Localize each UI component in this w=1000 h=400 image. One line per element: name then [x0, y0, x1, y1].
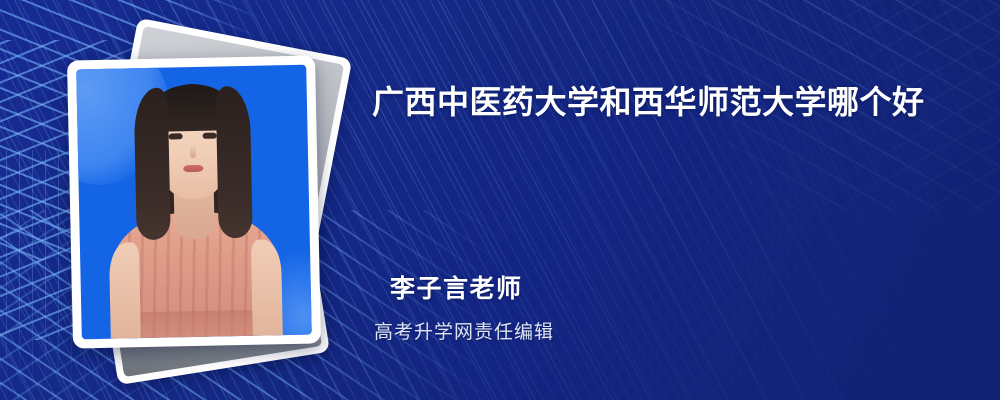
portrait-figure [76, 65, 312, 340]
portrait-nose [190, 145, 196, 158]
portrait-arm-left [109, 242, 141, 339]
article-author-banner: 广西中医药大学和西华师范大学哪个好 李子言老师 高考升学网责任编辑 [0, 0, 1000, 400]
page-title: 广西中医药大学和西华师范大学哪个好 [372, 76, 960, 128]
author-photo-stack [62, 44, 352, 362]
portrait-eye-left [169, 133, 183, 139]
author-portrait-photo [76, 65, 312, 340]
portrait-hair-strand-right [216, 86, 253, 239]
portrait-eye-right [203, 133, 217, 139]
portrait-mouth [183, 165, 203, 172]
portrait-arm-right [251, 239, 283, 336]
author-name: 李子言老师 [390, 274, 523, 304]
portrait-hair-strand-left [134, 88, 171, 241]
portrait-dress-waist [134, 310, 259, 339]
banner-text-block: 广西中医药大学和西华师范大学哪个好 李子言老师 高考升学网责任编辑 [372, 0, 972, 400]
avatar [67, 55, 321, 348]
author-role: 高考升学网责任编辑 [374, 321, 554, 345]
